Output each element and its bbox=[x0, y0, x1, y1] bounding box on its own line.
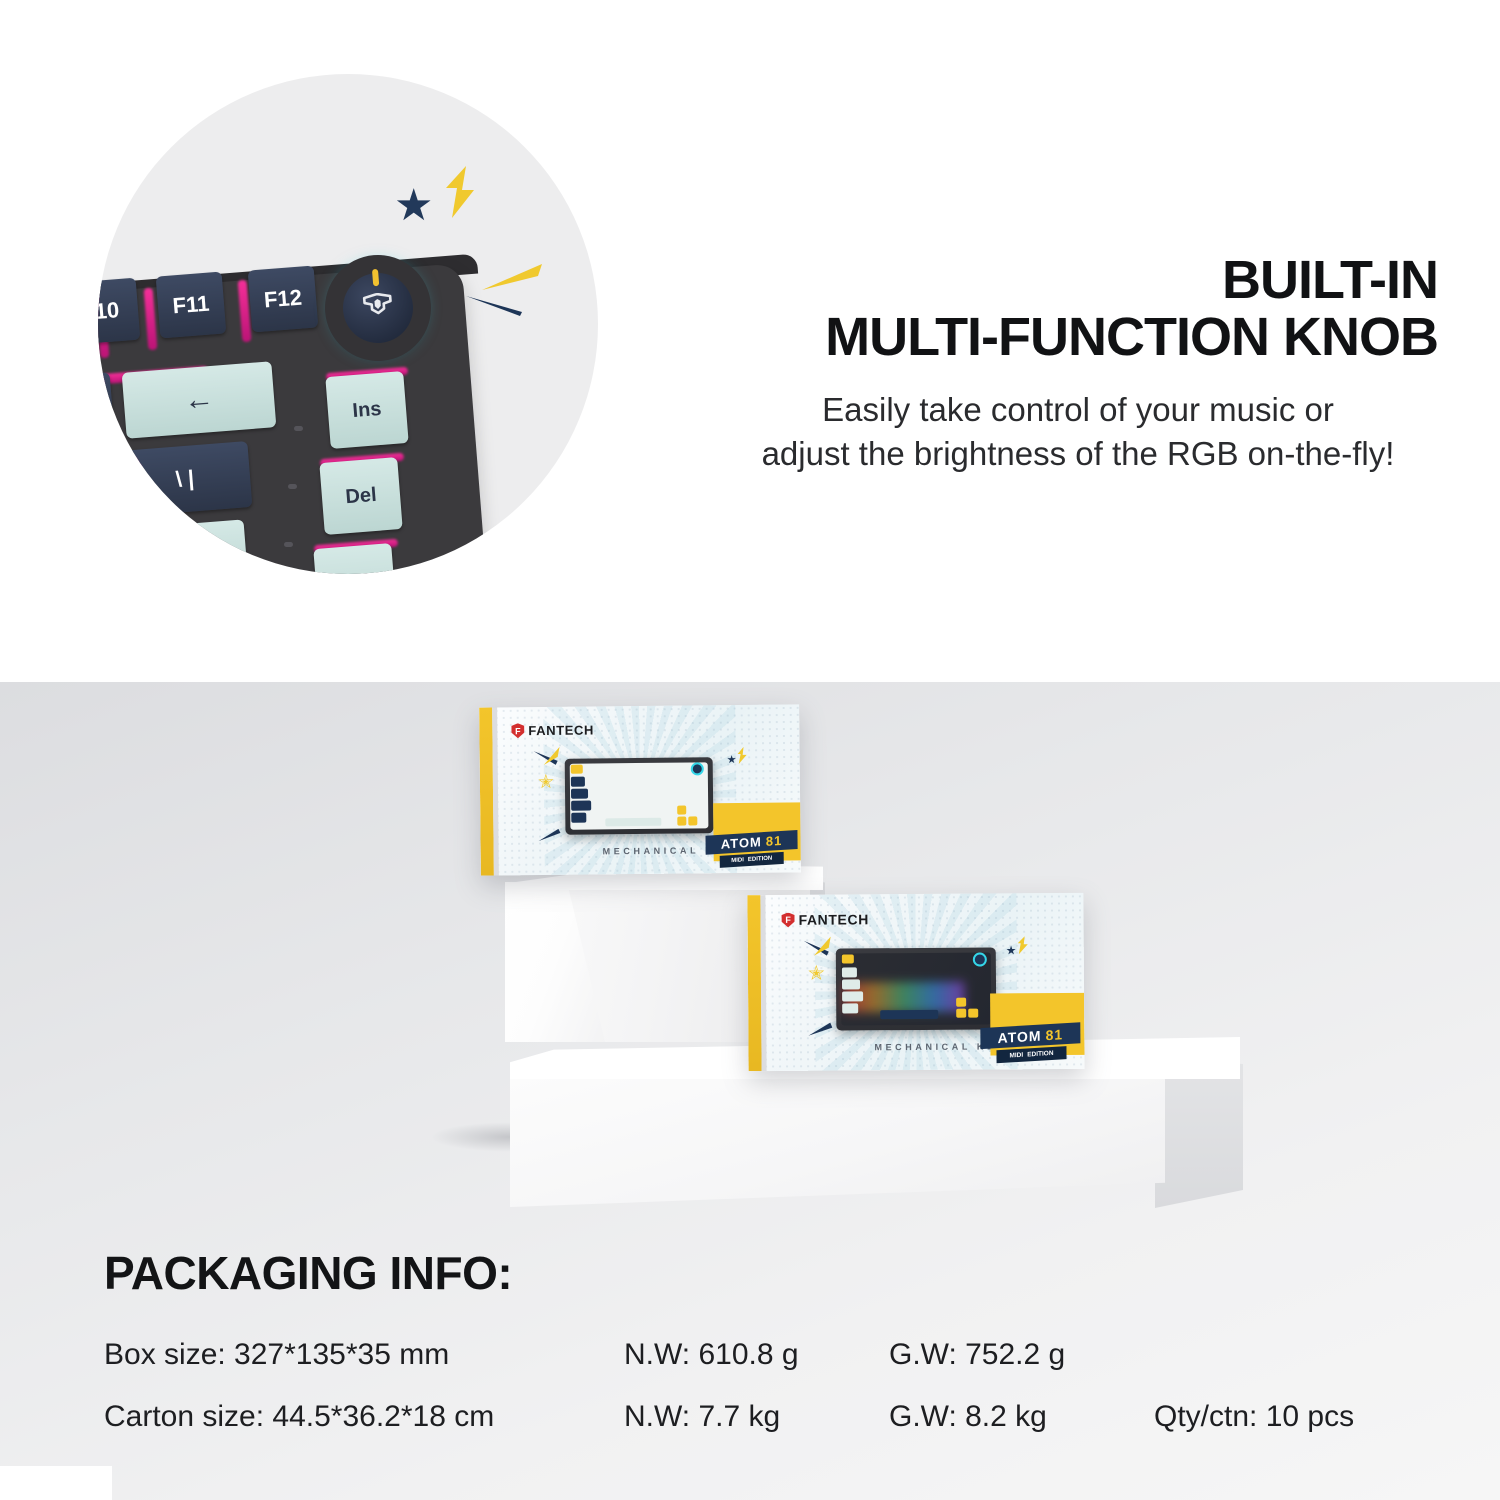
subhead-line-2: adjust the brightness of the RGB on-the-… bbox=[718, 432, 1438, 476]
fantech-logo-icon bbox=[361, 292, 395, 324]
key-label: ← bbox=[183, 382, 216, 418]
model-name: ATOM bbox=[998, 1027, 1042, 1046]
carton-size-value: Carton size: 44.5*36.2*18 cm bbox=[104, 1400, 624, 1434]
box-net-weight-value: N.W: 610.8 g bbox=[624, 1338, 889, 1372]
keycap bbox=[842, 967, 857, 977]
subhead-line-1: Easily take control of your music or bbox=[718, 388, 1438, 432]
key-label: Ins bbox=[352, 397, 383, 422]
key-label: PgUp bbox=[328, 568, 382, 574]
indicator-dot bbox=[288, 484, 297, 489]
knob-on-box bbox=[691, 762, 704, 775]
knob-on-box bbox=[973, 953, 987, 967]
wedge-icon bbox=[806, 1019, 834, 1040]
fantech-shield-icon: F bbox=[511, 723, 524, 738]
feature-text-block: BUILT-IN MULTI-FUNCTION KNOB Easily take… bbox=[718, 252, 1438, 476]
knob-closeup-image: 10 F11 F12 + ← bbox=[98, 74, 598, 574]
key-f12: F12 bbox=[248, 266, 319, 333]
podium-lower-side bbox=[1155, 1058, 1243, 1208]
lightning-bolt-icon bbox=[1016, 936, 1030, 954]
brand-logo: F FANTECH bbox=[782, 911, 869, 928]
wedge-icon bbox=[464, 292, 526, 318]
key-shift bbox=[124, 519, 248, 574]
keycap bbox=[571, 801, 591, 811]
brand-name: FANTECH bbox=[799, 911, 869, 927]
product-box-lower: F FANTECH ✭ ★ bbox=[747, 893, 1084, 1071]
keycap bbox=[842, 991, 863, 1001]
keycap bbox=[956, 1009, 966, 1018]
key-f11: F11 bbox=[156, 272, 227, 339]
multi-function-knob[interactable] bbox=[329, 259, 428, 358]
model-name: ATOM bbox=[721, 834, 762, 852]
atom-badge-group: ATOM 81 MIDI EDITION bbox=[980, 993, 1085, 1071]
keycap bbox=[968, 1009, 978, 1018]
keycap-space bbox=[605, 818, 661, 827]
edition-badge: MIDI EDITION bbox=[720, 852, 784, 868]
wedge-icon bbox=[812, 935, 835, 960]
wedge-icon bbox=[542, 745, 564, 769]
carton-qty-value: Qty/ctn: 10 pcs bbox=[1154, 1400, 1414, 1434]
star-icon: ✭ bbox=[808, 961, 825, 986]
packaging-info-table: Box size: 327*135*35 mm N.W: 610.8 g G.W… bbox=[104, 1338, 1424, 1462]
wedge-icon bbox=[478, 262, 544, 292]
key-pgup: PgUp home bbox=[313, 543, 396, 574]
star-icon: ★ bbox=[394, 184, 433, 228]
key-f10: 10 bbox=[98, 278, 140, 345]
key-del: Del bbox=[319, 457, 402, 535]
headline-line-2: MULTI-FUNCTION KNOB bbox=[718, 309, 1438, 366]
keycap bbox=[956, 998, 966, 1007]
brand-logo: F FANTECH bbox=[511, 722, 594, 738]
edition-left: MIDI bbox=[731, 857, 744, 864]
wedge-icon bbox=[536, 825, 562, 845]
keycap bbox=[571, 789, 588, 799]
star-icon: ✭ bbox=[538, 771, 554, 794]
atom-badge-group: ATOM 81 MIDI EDITION bbox=[705, 802, 801, 873]
key-label: F12 bbox=[263, 285, 303, 314]
fantech-shield-icon: F bbox=[782, 912, 795, 927]
brand-name: FANTECH bbox=[528, 722, 594, 738]
packaging-info-title: PACKAGING INFO: bbox=[104, 1246, 512, 1300]
edition-right: EDITION bbox=[1027, 1050, 1053, 1059]
product-box-upper: F FANTECH ✭ ★ bbox=[479, 704, 801, 875]
key-backslash: \ | bbox=[118, 441, 253, 517]
box-spine bbox=[747, 895, 761, 1071]
keycap bbox=[571, 777, 585, 787]
keycap bbox=[842, 1003, 858, 1013]
lightning-bolt-icon bbox=[736, 747, 749, 764]
packaging-row: Box size: 327*135*35 mm N.W: 610.8 g G.W… bbox=[104, 1338, 1424, 1372]
edition-badge: MIDI EDITION bbox=[996, 1046, 1066, 1063]
knob-indicator bbox=[372, 269, 379, 286]
key-backspace: ← bbox=[122, 361, 277, 439]
keycap bbox=[571, 813, 586, 823]
keycap-space bbox=[880, 1010, 938, 1019]
feature-section: 10 F11 F12 + ← bbox=[0, 0, 1500, 682]
corner-notch bbox=[0, 1466, 112, 1500]
box-gross-weight-value: G.W: 752.2 g bbox=[889, 1338, 1154, 1372]
keycap bbox=[677, 806, 686, 815]
keycap bbox=[677, 817, 686, 826]
key-ins: Ins bbox=[325, 371, 408, 449]
podium-lower-front bbox=[510, 1072, 1165, 1207]
keycap bbox=[688, 816, 697, 825]
model-number: 81 bbox=[766, 833, 783, 849]
edition-right: EDITION bbox=[748, 856, 772, 864]
carton-net-weight-value: N.W: 7.7 kg bbox=[624, 1400, 889, 1434]
lightning-bolt-icon bbox=[440, 166, 480, 218]
key-label: Del bbox=[345, 483, 378, 508]
keyboard-product-image bbox=[836, 947, 997, 1030]
key-label: 10 bbox=[98, 297, 120, 325]
box-size-value: Box size: 327*135*35 mm bbox=[104, 1338, 624, 1372]
keyboard-product-image bbox=[565, 757, 714, 835]
indicator-dot bbox=[284, 542, 293, 547]
edition-left: MIDI bbox=[1009, 1052, 1023, 1060]
key-label: F11 bbox=[172, 291, 211, 320]
model-number: 81 bbox=[1045, 1026, 1063, 1043]
carton-gross-weight-value: G.W: 8.2 kg bbox=[889, 1400, 1154, 1434]
keycap-esc bbox=[842, 954, 854, 963]
indicator-dot bbox=[294, 426, 303, 431]
keycap bbox=[842, 979, 860, 989]
keycap-esc bbox=[571, 765, 583, 774]
headline-line-1: BUILT-IN bbox=[718, 252, 1438, 309]
packaging-row: Carton size: 44.5*36.2*18 cm N.W: 7.7 kg… bbox=[104, 1400, 1424, 1434]
key-label: \ | bbox=[175, 465, 195, 492]
